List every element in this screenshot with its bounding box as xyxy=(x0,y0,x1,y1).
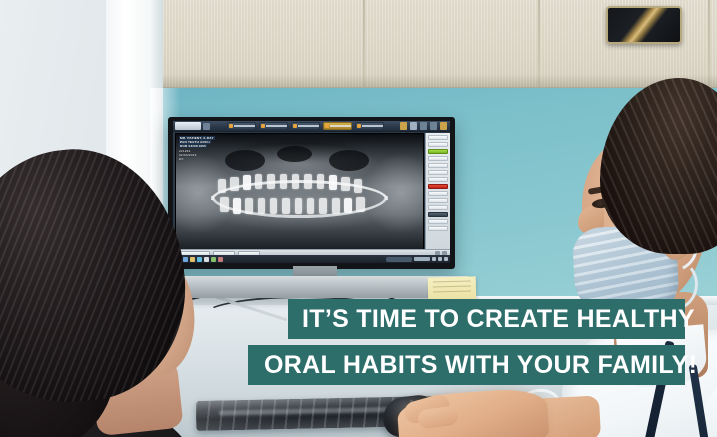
panoramic-radiograph: MR. PATIENT, X-RAY PAN TEETH ARCH DOB 03… xyxy=(176,134,423,249)
panel-row[interactable] xyxy=(428,156,448,161)
layers-icon[interactable] xyxy=(420,122,427,130)
volume-icon[interactable] xyxy=(438,257,442,261)
panel-row[interactable] xyxy=(428,142,448,147)
dentist-hair xyxy=(600,78,717,254)
export-icon[interactable] xyxy=(410,122,417,130)
panel-row[interactable] xyxy=(428,198,448,203)
promo-image: MR. PATIENT, X-RAY PAN TEETH ARCH DOB 03… xyxy=(0,0,717,437)
imaging-side-panel[interactable] xyxy=(425,133,450,250)
toolbar-button-print[interactable] xyxy=(355,122,384,130)
panel-row[interactable] xyxy=(428,205,448,210)
toolbar-buttons xyxy=(227,122,384,130)
tray-pill[interactable] xyxy=(386,257,412,262)
monitor-screen: MR. PATIENT, X-RAY PAN TEETH ARCH DOB 03… xyxy=(173,121,450,263)
app-icon[interactable] xyxy=(218,257,223,262)
monitor-base xyxy=(170,276,470,298)
imaging-software-toolbar xyxy=(173,121,450,132)
settings-icon[interactable] xyxy=(430,122,437,130)
battery-icon[interactable] xyxy=(444,257,448,261)
toolbar-button-enhance[interactable] xyxy=(291,122,320,130)
panel-row[interactable] xyxy=(428,191,448,196)
panel-row[interactable] xyxy=(428,135,448,140)
save-icon[interactable] xyxy=(400,122,407,130)
system-tray[interactable] xyxy=(386,257,448,262)
panel-row-dark[interactable] xyxy=(428,212,448,217)
windows-taskbar[interactable] xyxy=(173,255,450,263)
panel-row[interactable] xyxy=(428,226,448,231)
panel-row[interactable] xyxy=(428,177,448,182)
network-icon[interactable] xyxy=(432,257,436,261)
toolbar-button-file[interactable] xyxy=(227,122,256,130)
headline-text-2: ORAL HABITS WITH YOUR FAMILY! xyxy=(264,351,697,380)
app-tab[interactable] xyxy=(203,123,210,130)
mail-icon[interactable] xyxy=(204,257,209,262)
help-icon[interactable] xyxy=(440,122,447,130)
red-indicator xyxy=(428,184,448,189)
panel-row[interactable] xyxy=(428,170,448,175)
headline-text-1: IT’S TIME TO CREATE HEALTHY xyxy=(302,305,695,334)
xray-viewport[interactable]: MR. PATIENT, X-RAY PAN TEETH ARCH DOB 03… xyxy=(175,133,424,250)
wall-mounted-panel-icon xyxy=(606,6,682,44)
panel-row[interactable] xyxy=(428,163,448,168)
xray-overlay-line: DOB 03/08/1965 xyxy=(179,144,207,148)
taskbar-clock[interactable] xyxy=(414,257,430,261)
app-icon[interactable] xyxy=(211,257,216,262)
panel-row[interactable] xyxy=(428,219,448,224)
patient xyxy=(0,150,202,437)
toolbar-right-icons xyxy=(400,122,447,130)
toolbar-button-view[interactable] xyxy=(259,122,288,130)
headline-banner-line-2: ORAL HABITS WITH YOUR FAMILY! xyxy=(248,345,685,385)
app-logo-icon xyxy=(175,122,201,130)
green-indicator xyxy=(428,149,448,154)
toolbar-button-measure[interactable] xyxy=(323,122,352,130)
monitor: MR. PATIENT, X-RAY PAN TEETH ARCH DOB 03… xyxy=(168,117,455,269)
headline-banner-line-1: IT’S TIME TO CREATE HEALTHY xyxy=(288,299,685,339)
